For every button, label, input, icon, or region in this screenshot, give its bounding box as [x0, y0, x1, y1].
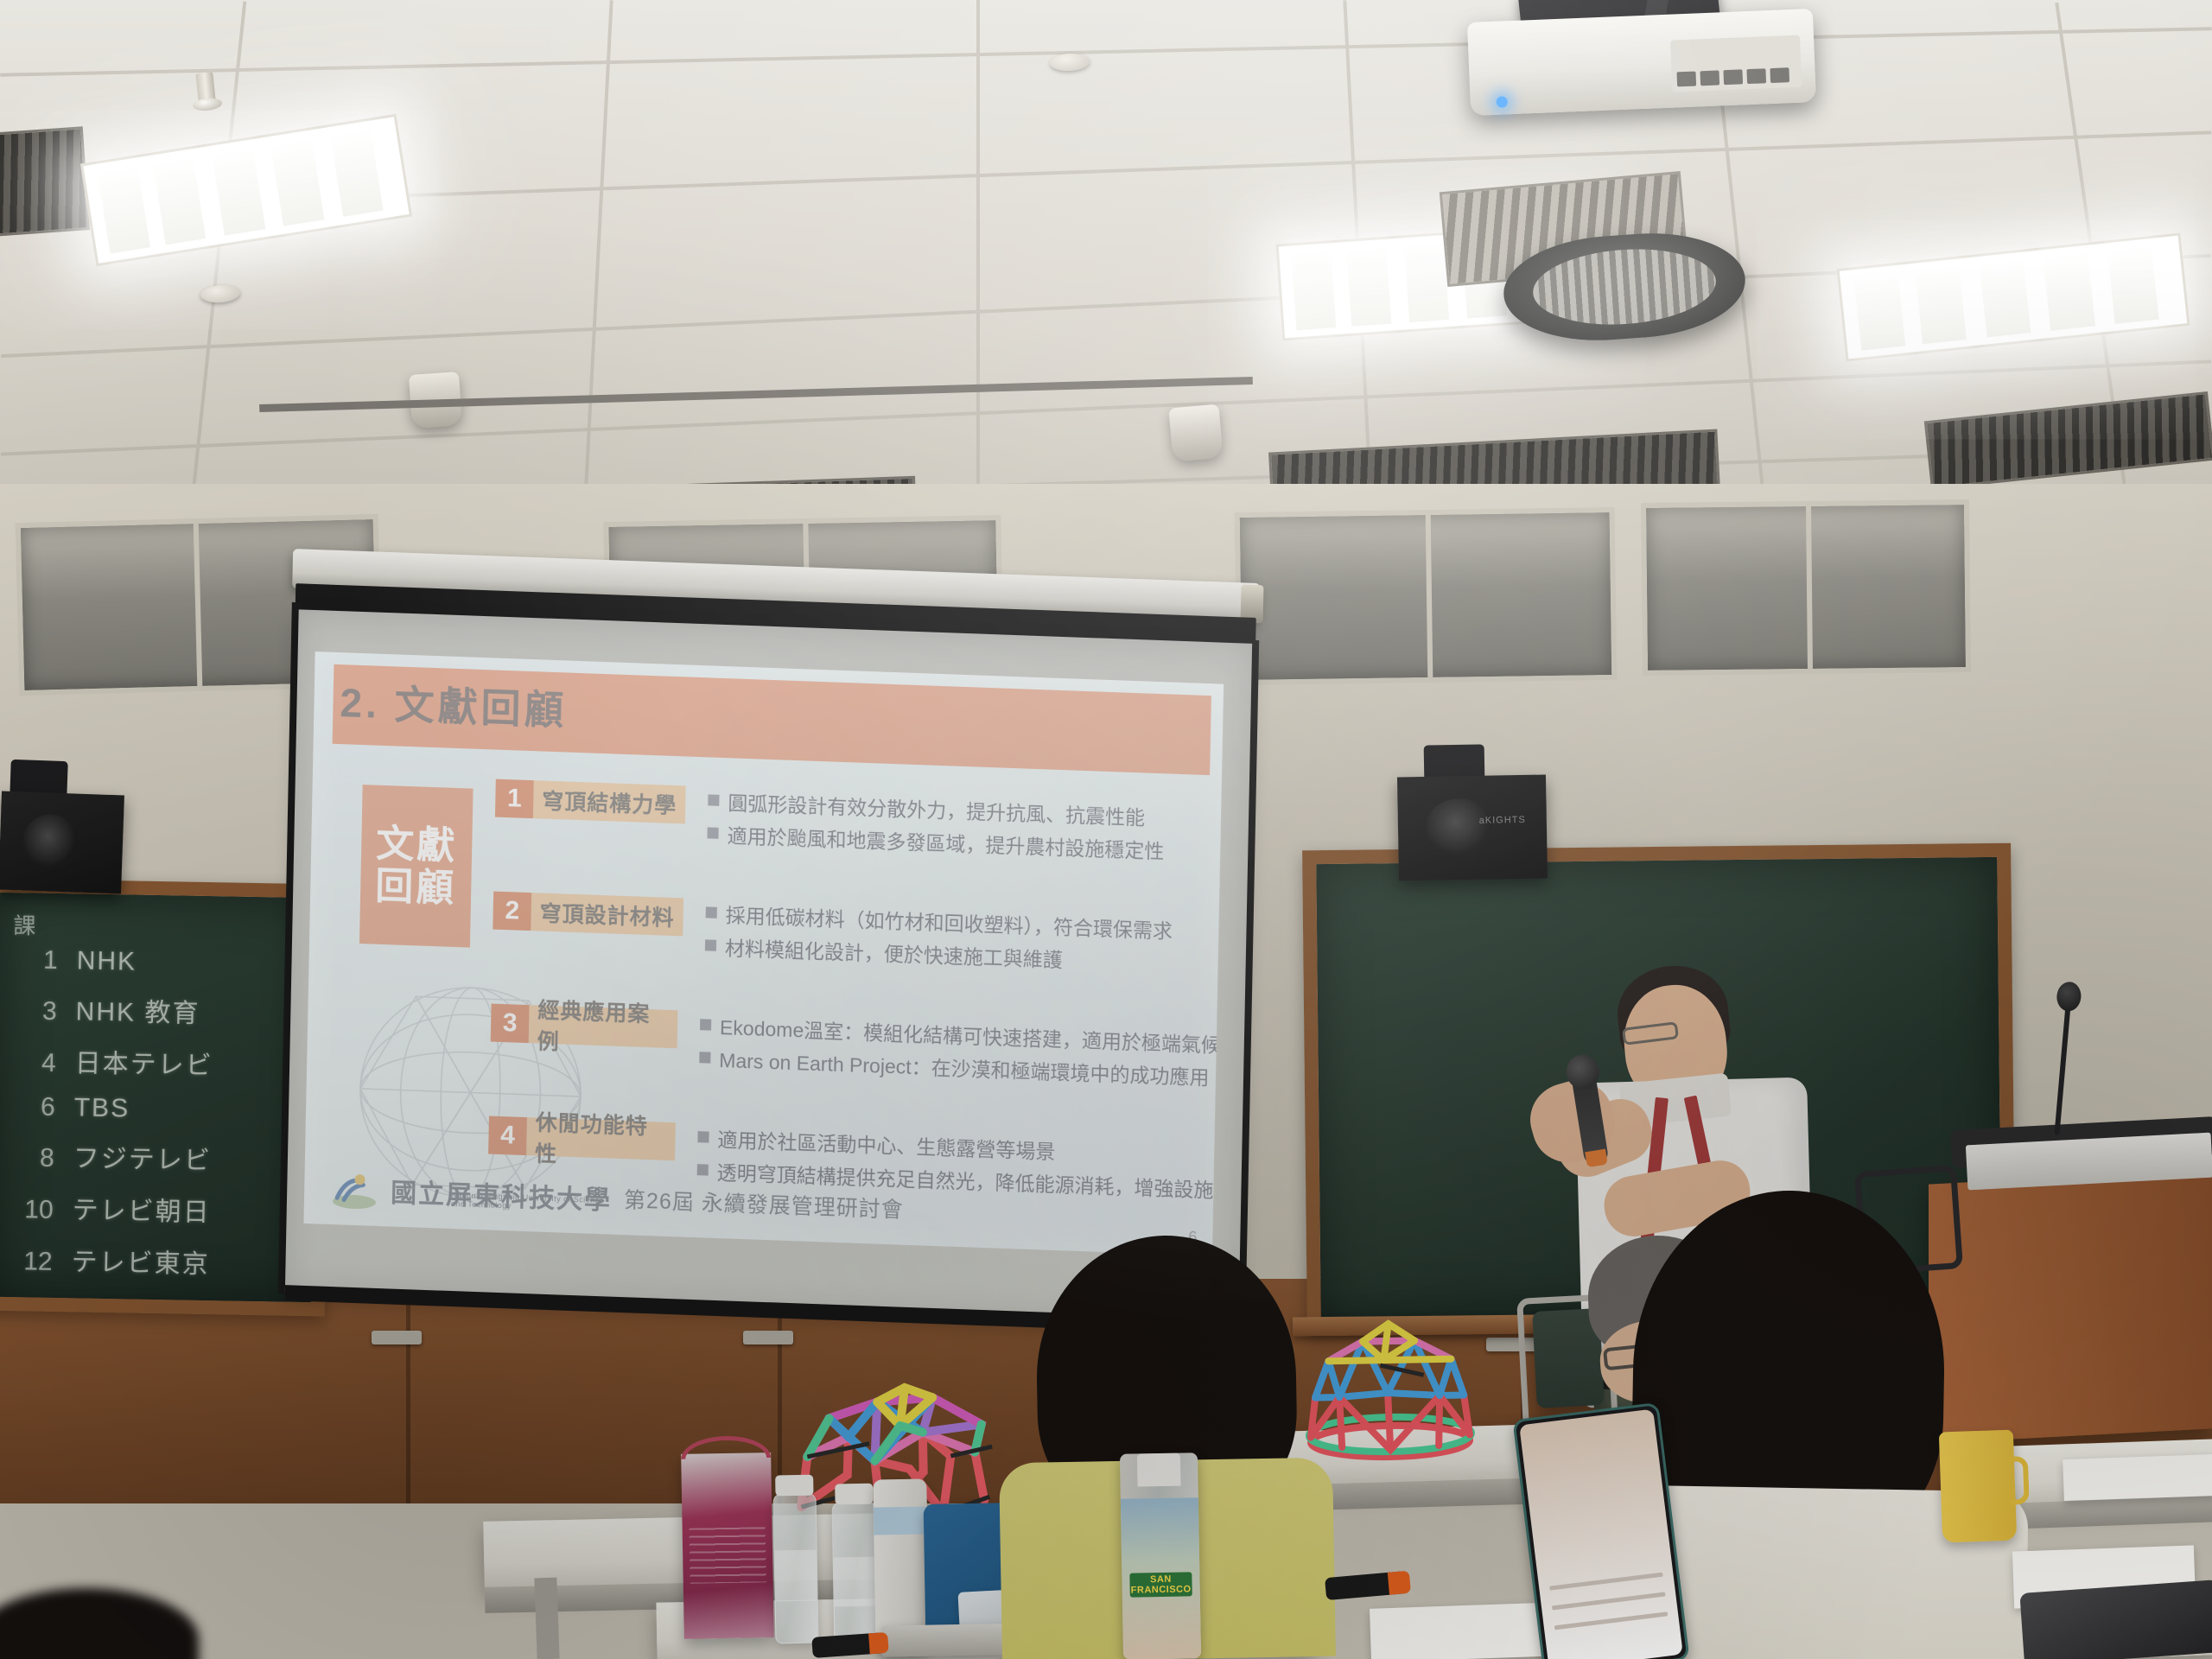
ceiling	[0, 0, 2212, 518]
bullet-marker-icon	[697, 1131, 709, 1142]
section-label-line1: 文獻	[376, 822, 458, 868]
paper-stack-center	[1370, 1602, 1561, 1659]
ceiling-projector	[1467, 9, 1816, 116]
water-bottle-2	[832, 1502, 880, 1648]
slide-row: 3 經典應用案例 Ekodome溫室：模組化結構可快速搭建，適用於極端氣候 Ma…	[490, 1004, 1205, 1096]
chalk-name: NHK	[76, 946, 137, 976]
chalk-row: 4 日本テレビ	[10, 1040, 307, 1084]
row-bullets: Ekodome溫室：模組化結構可快速搭建，適用於極端氣候 Mars on Ear…	[699, 1011, 1221, 1096]
chalk-number: 4	[10, 1048, 56, 1078]
gift-bag-print	[690, 1527, 766, 1584]
footer-conference: 第26屆 永續發展管理研討會	[624, 1183, 904, 1224]
chalk-row: 8 フジテレビ	[9, 1135, 305, 1179]
bottle-label-text: SAN FRANCISCO	[1129, 1572, 1192, 1597]
chalk-number: 3	[11, 996, 57, 1027]
row-tag: 穹頂設計材料	[531, 893, 683, 936]
chalk-name: TBS	[73, 1093, 130, 1123]
slide-title: 2. 文獻回顧	[340, 671, 568, 736]
chalk-number: 12	[7, 1247, 53, 1277]
classroom-scene: 課 1 NHK 3 NHK 教育 4 日本テレビ 6 TBS 8 フジテレビ	[0, 0, 2212, 1659]
chalk-name: フジテレビ	[73, 1136, 212, 1177]
chalk-number: 1	[12, 945, 58, 976]
phone-screen[interactable]	[1519, 1409, 1683, 1659]
paper-sheet-right	[2063, 1454, 2212, 1501]
bag-dark-right	[2019, 1580, 2212, 1659]
chalk-name: NHK 教育	[75, 989, 200, 1030]
bullet-marker-icon	[708, 827, 719, 838]
section-label-line2: 回顧	[375, 865, 457, 911]
cabinet-handle-2[interactable]	[743, 1331, 793, 1344]
ceiling-spotlight-2	[1168, 404, 1223, 462]
row-number: 1	[495, 779, 534, 819]
podium	[1929, 1169, 2212, 1443]
row-tag: 穹頂結構力學	[533, 780, 686, 823]
bottle-label	[775, 1550, 817, 1601]
chalk-row: 1 NHK	[12, 945, 308, 980]
wall-speaker-left	[0, 791, 124, 894]
san-francisco-water-bottle: SAN FRANCISCO	[1120, 1452, 1201, 1659]
projector-power-led	[1496, 96, 1508, 108]
university-logo-icon	[330, 1168, 379, 1210]
row-bullets: 採用低碳材料（如竹材和回收塑料），符合環保需求 材料模組化設計，便於快速施工與維…	[705, 899, 1173, 981]
ceiling-vent-left	[0, 126, 90, 236]
yellow-cup	[1939, 1430, 2017, 1543]
chalk-number: 6	[10, 1092, 55, 1122]
bottle-cap	[835, 1484, 873, 1505]
chalk-name: テレビ朝日	[72, 1188, 211, 1229]
audience-head-blurred	[0, 1588, 199, 1659]
bullet-marker-icon	[708, 794, 719, 805]
row-bullets: 圓弧形設計有效分散外力，提升抗風、抗震性能 適用於颱風和地震多發區域，提升農村設…	[707, 786, 1165, 868]
projected-slide: 2. 文獻回顧 文獻 回顧	[303, 652, 1224, 1256]
bullet-marker-icon	[705, 939, 716, 950]
cabinet-handle-1[interactable]	[372, 1331, 422, 1344]
chalk-number: 8	[9, 1143, 54, 1173]
clerestory-window-far-right	[1641, 499, 1971, 676]
bullet-marker-icon	[699, 1052, 710, 1063]
ceiling-grid	[0, 0, 2212, 518]
chalk-name: 日本テレビ	[74, 1041, 213, 1082]
row-number: 4	[488, 1116, 527, 1156]
sprinkler-head-1	[195, 72, 215, 103]
speaker-cone	[1424, 798, 1493, 858]
bullet-marker-icon	[706, 906, 717, 918]
chalk-number: 10	[8, 1195, 54, 1225]
dome-model-right	[1293, 1305, 1485, 1472]
chalk-channel-list: 課 1 NHK 3 NHK 教育 4 日本テレビ 6 TBS 8 フジテレビ	[7, 908, 309, 1296]
desk-leg-left	[534, 1578, 559, 1659]
chalk-heading: 課	[13, 908, 309, 945]
projection-screen: 2. 文獻回顧 文獻 回顧	[277, 549, 1260, 1344]
chalk-name: テレビ東京	[71, 1240, 210, 1281]
cup-handle	[2009, 1456, 2030, 1505]
slide-row: 2 穹頂設計材料 採用低碳材料（如竹材和回收塑料），符合環保需求 材料模組化設計…	[493, 892, 1207, 983]
speaker-brand: aKIGHTS	[1479, 815, 1526, 826]
bottle-cap	[775, 1475, 813, 1497]
clerestory-window-right	[1235, 507, 1618, 685]
projector-ports	[1670, 35, 1802, 92]
row-number: 3	[491, 1004, 530, 1044]
chalk-row: 3 NHK 教育	[11, 988, 308, 1032]
conference-gift-bag	[681, 1452, 774, 1639]
row-number: 2	[493, 892, 531, 931]
slide-section-label: 文獻 回顧	[359, 785, 474, 948]
row-tag: 休閒功能特性	[526, 1117, 676, 1160]
marker-pen-center[interactable]	[1325, 1571, 1409, 1600]
tumbler-band	[874, 1506, 928, 1535]
chalk-row: 10 テレビ朝日	[8, 1187, 304, 1230]
slide-row: 1 穹頂結構力學 圓弧形設計有效分散外力，提升抗風、抗震性能 適用於颱風和地震多…	[494, 779, 1209, 871]
bottle-cap	[1137, 1453, 1181, 1487]
chalk-row: 12 テレビ東京	[7, 1239, 303, 1282]
bullet-marker-icon	[700, 1019, 711, 1030]
row-tag: 經典應用案例	[529, 1005, 678, 1048]
bottle-label	[834, 1557, 878, 1606]
chalk-row: 6 TBS	[10, 1092, 306, 1127]
water-bottle-1	[772, 1493, 818, 1644]
wall-speaker-right: aKIGHTS	[1397, 775, 1548, 881]
speaker-cone	[21, 814, 79, 871]
